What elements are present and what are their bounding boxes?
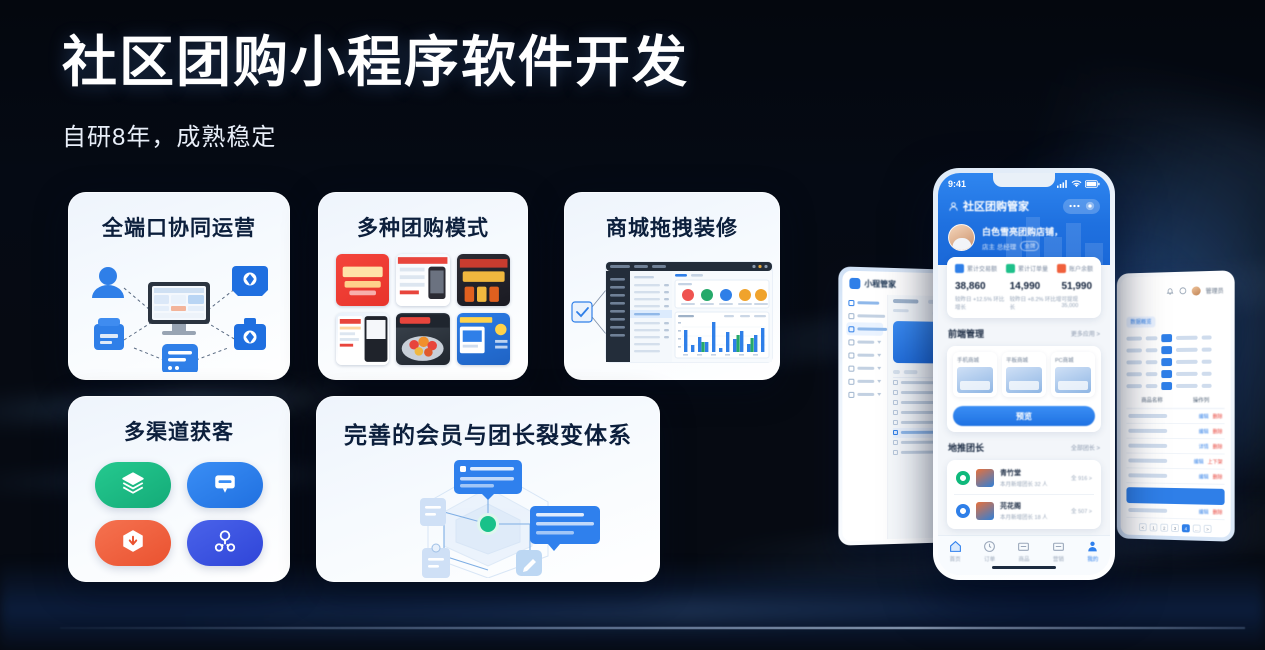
list-thumbnail [976,502,994,520]
page-next[interactable]: > [1204,525,1212,533]
sidebar-item-users[interactable] [846,348,883,361]
sidebar-item-finance[interactable] [846,362,883,375]
thumbnail-blue-promo[interactable] [457,313,510,365]
table-row[interactable]: 编辑删除 [1126,468,1224,484]
thumbnail-food-photo[interactable] [396,313,449,365]
feature-card-group-buy-modes[interactable]: 多种团购模式 [318,192,528,380]
stats-values-row: 38,860 较昨日 +12.5% 环比增长 14,990 较昨日 +8.2% … [955,281,1093,311]
feature-card-all-port-collaboration[interactable]: 全端口协同运营 [68,192,290,380]
list-item[interactable]: 青竹堂 本月新增团长 32 人 全 916 > [954,462,1094,495]
table-row[interactable]: 编辑删除 [1126,409,1224,424]
list-thumbnail [976,469,994,487]
thumbnail-blue-app[interactable] [336,313,389,365]
brand-logo-icon [849,278,860,289]
dashboard-svg [564,250,780,372]
page-2[interactable]: 2 [1160,524,1168,532]
hexagon-network-diagram [316,452,660,578]
list-item[interactable]: 芫花阁 本月新增团长 18 人 全 507 > [954,495,1094,527]
user-role: 店主 总经理 [982,241,1016,251]
home-indicator [992,566,1056,569]
box-icon [1017,540,1030,553]
layers-icon [120,470,146,501]
user-name: 白色雪亮团购店铺， [982,225,1063,238]
brand-name: 小程管家 [864,278,896,290]
stat-header-0: 累计交易额 [955,264,997,273]
help-icon[interactable] [1179,282,1187,300]
page-subtitle: 自研8年，成熟稳定 [62,117,689,152]
table-col-name: 商品名称 [1141,396,1162,404]
sidebar-item-operations[interactable] [846,375,883,388]
tablet-right-body: 数据概览 商品名称 操作列 编辑删除 编辑删除 详情删除 编辑上下架 编辑删除 [1121,305,1231,538]
card-title: 多渠道获客 [68,416,290,446]
status-time: 9:41 [948,179,966,189]
user-role-row: 店主 总经理 金牌 [982,241,1063,251]
stat-2: 51,990 可提现 35,000 [1061,281,1093,311]
tablet-right-topbar: 管理员 [1121,274,1231,307]
icon-tile-grid [68,462,290,566]
section-header-frontend: 前端管理 更多应用 > [948,327,1100,340]
ground-reflection-line [60,627,1245,629]
chevron-down-icon [877,380,881,383]
user-outline-icon [948,201,959,212]
sidebar-item-mall[interactable] [846,309,883,323]
phone-app-title: 社区团购管家 [963,198,1029,214]
tablet-left-screen: 小程管家 [842,271,944,542]
nav-item-profile[interactable]: 我的 [1086,540,1099,563]
card-title: 全端口协同运营 [68,212,290,242]
chevron-down-icon [877,354,881,357]
admin-sidebar[interactable] [842,294,887,541]
tile-pc-mall[interactable]: PC商城 [1051,352,1095,397]
chevron-down-icon [877,367,881,370]
page-prev[interactable]: < [1139,523,1147,531]
page-title: 社区团购小程序软件开发 [62,30,689,95]
user-tag: 金牌 [1020,241,1039,251]
sidebar-item-products[interactable] [846,322,883,336]
network-diagram-svg [68,248,290,372]
status-badge: 数据概览 [1126,316,1155,327]
chat-bubble-icon-tile[interactable] [187,462,263,508]
status-dot [956,471,970,485]
table-header: 商品名称 操作列 [1126,392,1224,409]
network-diagram [68,248,290,372]
hexagon-diagram-svg [316,452,660,578]
feature-card-mall-drag-decoration[interactable]: 商城拖拽装修 [564,192,780,380]
stat-header-2: 账户余额 [1057,264,1093,273]
stat-header-1: 累计订单量 [1006,264,1048,273]
chat-bubble-right [530,506,600,551]
section-header-leaders: 地推团长 全部团长 > [948,441,1100,454]
wifi-icon [1071,180,1082,188]
chat-bubble-top [454,460,522,500]
note-left [420,498,446,526]
preview-button[interactable]: 预览 [953,406,1095,426]
page-1[interactable]: 1 [1150,523,1158,531]
chevron-down-icon [877,341,881,344]
nav-item-orders[interactable]: 订单 [983,540,996,563]
feature-card-member-leader-fission[interactable]: 完善的会员与团长裂变体系 [316,396,660,582]
download-box-icon [120,528,146,559]
hero-text-block: 社区团购小程序软件开发 自研8年，成熟稳定 [62,30,689,152]
sidebar-item-settings[interactable] [846,388,883,401]
pagination[interactable]: < 1 2 3 4 ... > [1126,518,1224,538]
tile-mobile-mall[interactable]: 手机商城 [953,352,997,397]
clipboard-bottom-left [422,544,450,578]
stat-1: 14,990 较昨日 +8.2% 环比增长 [1010,281,1062,311]
table-col-actions: 操作列 [1193,396,1209,404]
person-icon [1086,540,1099,553]
edit-bottom-right [516,550,542,576]
section-title: 前端管理 [948,327,984,340]
dashboard-preview [564,250,780,372]
clock-icon [983,540,996,553]
sidebar-item-home[interactable] [846,296,883,310]
avatar[interactable] [1192,286,1201,295]
table-row[interactable]: 编辑上下架 [1126,453,1224,469]
stats-header-row: 累计交易额 累计订单量 账户余额 [955,264,1093,273]
phone-notch [993,173,1055,187]
phone-app-title-group: 社区团购管家 [948,198,1029,214]
page-4-current[interactable]: 4 [1182,524,1190,532]
tablet-left-brand-row: 小程管家 [842,271,944,297]
promo-banner: 社区团购小程序软件开发 自研8年，成熟稳定 全端口协同运营 [0,0,1265,650]
frontend-tiles-card: 手机商城 平板商城 PC商城 预览 [947,346,1101,432]
bell-icon[interactable] [1166,282,1174,300]
nav-item-marketing[interactable]: 营销 [1052,540,1065,563]
signal-icon [1057,180,1068,188]
avatar[interactable] [948,224,975,251]
status-dot [956,504,970,518]
section-more-link[interactable]: 更多应用 > [1071,329,1100,338]
card-title: 商城拖拽装修 [564,212,780,242]
list-more-link[interactable]: 全部团长 > [1071,443,1100,452]
tablet-left-mockup[interactable]: 小程管家 [838,266,948,545]
download-box-icon-tile[interactable] [95,520,171,566]
nav-item-products[interactable]: 商品 [1017,540,1030,563]
tablet-right-screen: 管理员 数据概览 商品名称 操作列 编辑删除 编辑删除 详情删除 编辑 [1121,274,1231,537]
chat-bubble-icon [212,470,238,501]
thumbnail-grid [318,254,528,365]
phone-screen: 9:41 社区团购管家 [938,173,1110,575]
feature-card-multi-channel-acquisition[interactable]: 多渠道获客 [68,396,290,582]
tablet-left-body [842,294,944,541]
account-name: 管理员 [1206,285,1224,295]
list-title: 地推团长 [948,441,984,454]
page-3[interactable]: 3 [1171,524,1179,532]
leader-list-card: 青竹堂 本月新增团长 32 人 全 916 > 芫花阁 本月新增团长 18 人 … [947,460,1101,529]
grid-icon [1052,540,1065,553]
phone-bottom-nav[interactable]: 首页 订单 商品 营销 我的 [938,535,1110,575]
table-row[interactable]: 编辑删除 [1126,424,1224,440]
share-network-icon [212,528,238,559]
card-title: 多种团购模式 [318,212,528,242]
home-icon [949,540,962,553]
nav-item-home[interactable]: 首页 [949,540,962,563]
tile-tablet-mall[interactable]: 平板商城 [1002,352,1046,397]
thumbnail-app-screen[interactable] [396,254,449,306]
card-title: 完善的会员与团长裂变体系 [316,416,660,450]
phone-mockup[interactable]: 9:41 社区团购管家 [933,168,1115,580]
table-row[interactable]: 详情删除 [1126,439,1224,455]
battery-icon [1085,180,1100,188]
phone-body: 累计交易额 累计订单量 账户余额 38,860 较昨日 +12.5% 环比增长 … [938,257,1110,529]
page-ellipsis: ... [1193,524,1201,532]
share-network-icon-tile[interactable] [187,520,263,566]
frontend-tiles: 手机商城 平板商城 PC商城 [953,352,1095,397]
stats-card: 累计交易额 累计订单量 账户余额 38,860 较昨日 +12.5% 环比增长 … [947,257,1101,318]
chevron-down-icon [877,393,881,396]
thumbnail-dark-promo[interactable] [457,254,510,306]
status-icons [1057,180,1100,188]
stat-0: 38,860 较昨日 +12.5% 环比增长 [955,281,1010,311]
thumbnail-red-promo[interactable] [336,254,389,306]
layers-icon-tile[interactable] [95,462,171,508]
sidebar-item-orders[interactable] [846,335,883,349]
tablet-right-mockup[interactable]: 管理员 数据概览 商品名称 操作列 编辑删除 编辑删除 详情删除 编辑 [1117,270,1235,541]
